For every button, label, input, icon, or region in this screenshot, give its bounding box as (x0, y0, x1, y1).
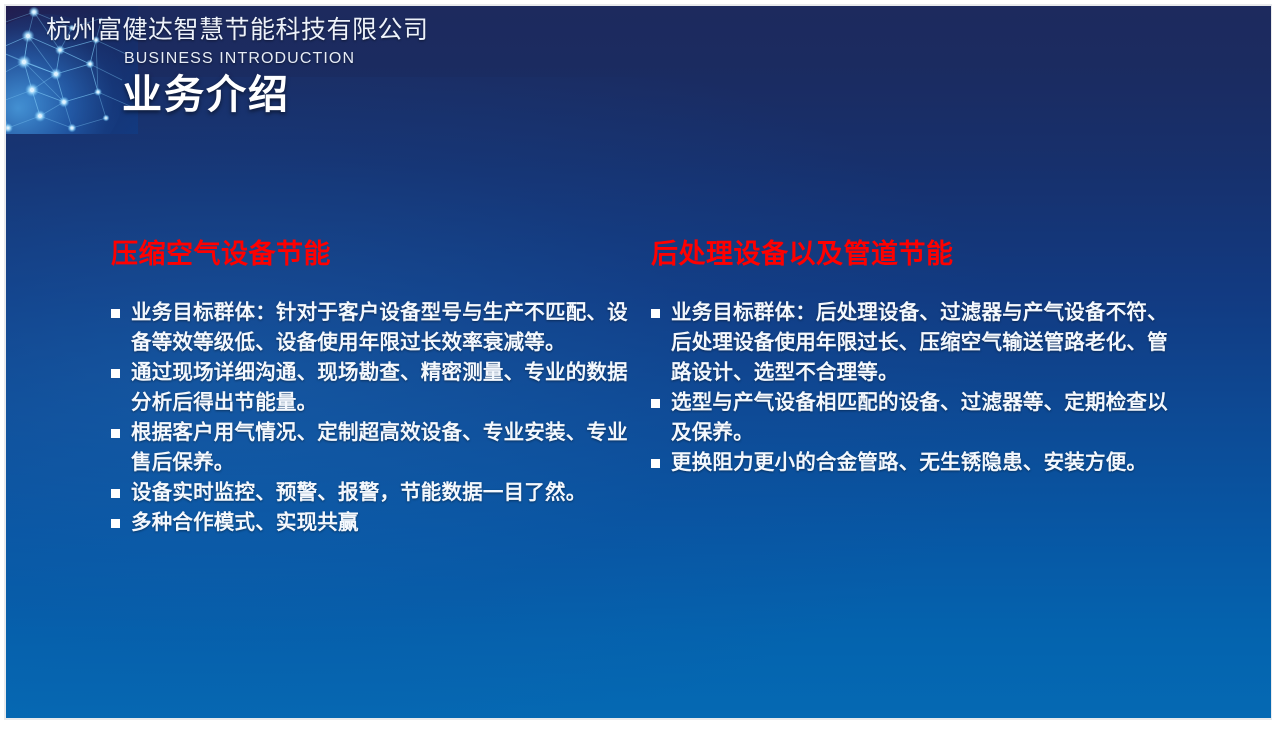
bullet-list-right: 业务目标群体：后处理设备、过滤器与产气设备不符、后处理设备使用年限过长、压缩空气… (651, 298, 1176, 478)
subtitle-english: BUSINESS INTRODUCTION (124, 49, 746, 69)
list-item: 设备实时监控、预警、报警，节能数据一目了然。 (111, 478, 631, 508)
list-item-text: 业务目标群体：后处理设备、过滤器与产气设备不符、后处理设备使用年限过长、压缩空气… (671, 301, 1168, 384)
column-heading-right: 后处理设备以及管道节能 (651, 238, 1176, 270)
bullet-list-left: 业务目标群体：针对于客户设备型号与生产不匹配、设备等效等级低、设备使用年限过长效… (111, 298, 631, 538)
column-heading-left: 压缩空气设备节能 (111, 238, 631, 270)
presentation-page: 杭州富健达智慧节能科技有限公司 BUSINESS INTRODUCTION 业务… (0, 0, 1287, 729)
list-item-text: 业务目标群体：针对于客户设备型号与生产不匹配、设备等效等级低、设备使用年限过长效… (131, 301, 628, 354)
bullet-square-icon (651, 399, 660, 408)
list-item-text: 设备实时监控、预警、报警，节能数据一目了然。 (131, 481, 586, 504)
bullet-square-icon (651, 459, 660, 468)
list-item-text: 多种合作模式、实现共赢 (131, 511, 359, 534)
list-item: 多种合作模式、实现共赢 (111, 508, 631, 538)
list-item: 业务目标群体：针对于客户设备型号与生产不匹配、设备等效等级低、设备使用年限过长效… (111, 298, 631, 358)
list-item: 根据客户用气情况、定制超高效设备、专业安装、专业售后保养。 (111, 418, 631, 478)
content-column-right: 后处理设备以及管道节能 业务目标群体：后处理设备、过滤器与产气设备不符、后处理设… (651, 238, 1176, 478)
page-title: 业务介绍 (122, 71, 746, 119)
bullet-square-icon (111, 429, 120, 438)
bullet-square-icon (111, 489, 120, 498)
content-column-left: 压缩空气设备节能 业务目标群体：针对于客户设备型号与生产不匹配、设备等效等级低、… (111, 238, 631, 538)
bullet-square-icon (111, 369, 120, 378)
list-item-text: 选型与产气设备相匹配的设备、过滤器等、定期检查以及保养。 (671, 391, 1168, 444)
list-item: 选型与产气设备相匹配的设备、过滤器等、定期检查以及保养。 (651, 388, 1176, 448)
list-item: 业务目标群体：后处理设备、过滤器与产气设备不符、后处理设备使用年限过长、压缩空气… (651, 298, 1176, 388)
bullet-square-icon (111, 309, 120, 318)
list-item-text: 根据客户用气情况、定制超高效设备、专业安装、专业售后保养。 (131, 421, 628, 474)
list-item: 更换阻力更小的合金管路、无生锈隐患、安装方便。 (651, 448, 1176, 478)
list-item-text: 更换阻力更小的合金管路、无生锈隐患、安装方便。 (671, 451, 1147, 474)
slide-canvas: 杭州富健达智慧节能科技有限公司 BUSINESS INTRODUCTION 业务… (6, 6, 1271, 718)
list-item: 通过现场详细沟通、现场勘查、精密测量、专业的数据分析后得出节能量。 (111, 358, 631, 418)
company-name: 杭州富健达智慧节能科技有限公司 (46, 14, 746, 46)
slide-header: 杭州富健达智慧节能科技有限公司 BUSINESS INTRODUCTION 业务… (46, 14, 746, 119)
bullet-square-icon (111, 519, 120, 528)
bullet-square-icon (651, 309, 660, 318)
list-item-text: 通过现场详细沟通、现场勘查、精密测量、专业的数据分析后得出节能量。 (131, 361, 628, 414)
